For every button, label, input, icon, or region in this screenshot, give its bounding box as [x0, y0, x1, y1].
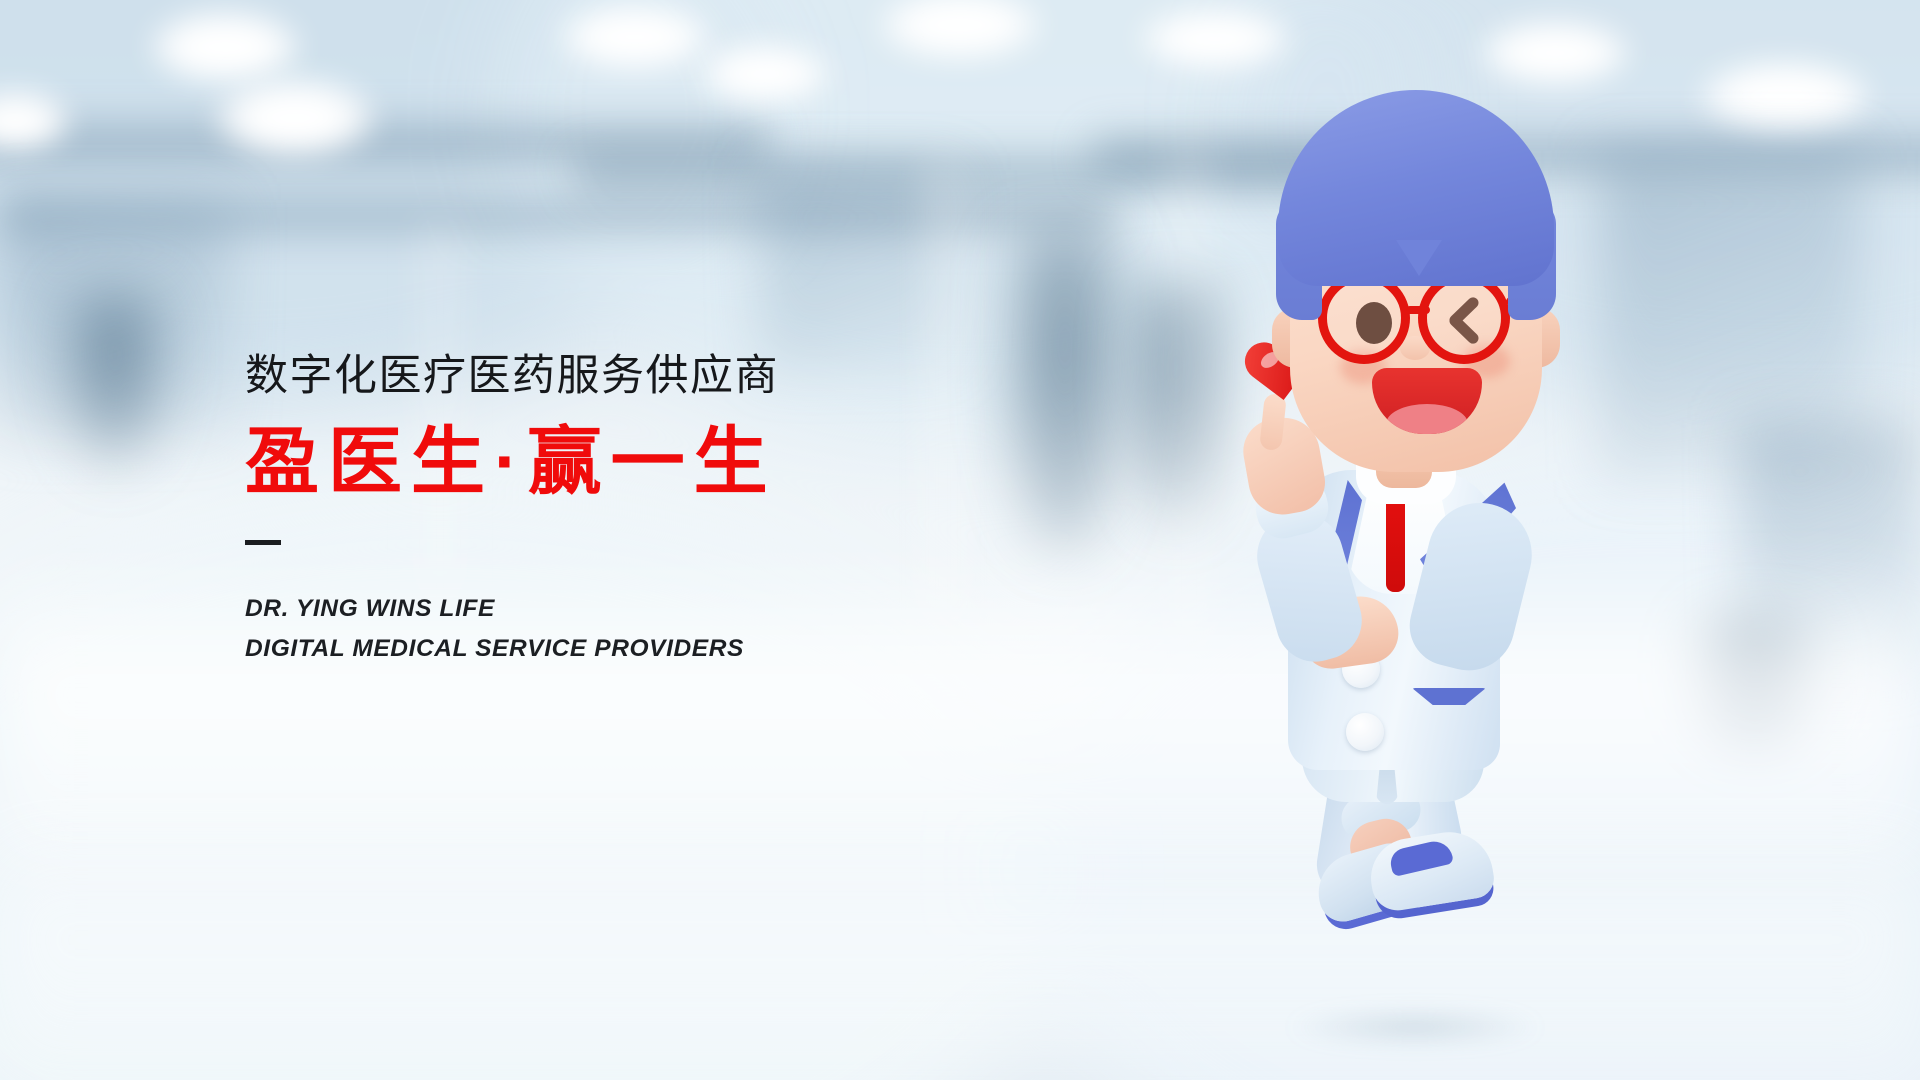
- ceiling-light-9: [1700, 60, 1870, 132]
- mouth: [1372, 368, 1482, 434]
- glasses-bridge: [1406, 306, 1430, 314]
- divider-rule: [245, 540, 281, 545]
- ceiling-light-1: [150, 10, 300, 84]
- ceiling-light-4: [560, 4, 710, 70]
- floor-lower: [0, 820, 1920, 1080]
- english-line-1: DR. YING WINS LIFE: [245, 589, 1005, 629]
- banner-copy: 数字化医疗医药服务供应商 盈医生·赢一生 DR. YING WINS LIFE …: [245, 352, 1005, 669]
- ceiling-light-2: [215, 78, 375, 158]
- banner-eyebrow: 数字化医疗医药服务供应商: [245, 352, 1005, 401]
- banner-english-block: DR. YING WINS LIFE DIGITAL MEDICAL SERVI…: [245, 589, 1005, 668]
- bg-person-1: [1000, 230, 1130, 560]
- coat-button-bottom: [1346, 713, 1384, 751]
- tongue: [1386, 404, 1468, 434]
- banner-headline: 盈医生·赢一生: [245, 421, 1005, 504]
- doctor-mascot: [1210, 50, 1630, 1050]
- bg-person-3: [60, 290, 170, 470]
- english-line-2: DIGITAL MEDICAL SERVICE PROVIDERS: [245, 629, 1005, 669]
- banner-stage: 数字化医疗医药服务供应商 盈医生·赢一生 DR. YING WINS LIFE …: [0, 0, 1920, 1080]
- ceiling-light-5: [700, 44, 830, 104]
- shoe-strap: [1388, 838, 1454, 877]
